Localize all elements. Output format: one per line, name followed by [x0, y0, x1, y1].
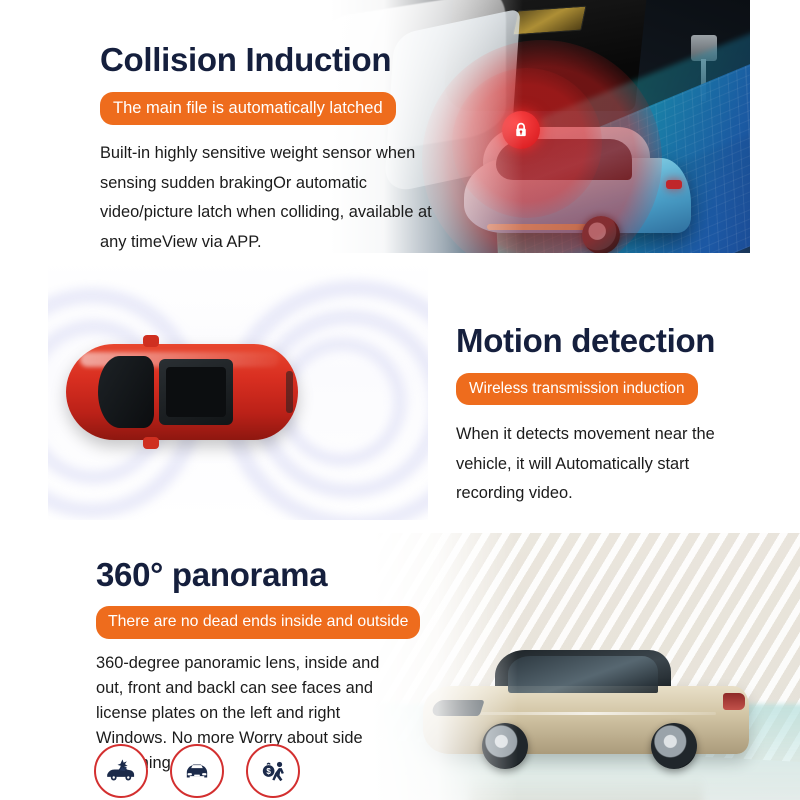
red-car-sunroof — [159, 359, 233, 424]
gold-sedan-taillight — [723, 693, 746, 711]
red-car-rear — [286, 371, 293, 413]
section-heading: Motion detection — [456, 322, 756, 360]
motion-artwork — [48, 258, 428, 520]
red-car-mirror-top — [143, 335, 159, 347]
motion-text-block: Motion detection Wireless transmission i… — [456, 322, 756, 509]
gold-sedan-glass — [508, 656, 658, 692]
panorama-text-block: 360° panorama There are no dead ends ins… — [96, 556, 436, 776]
red-car-sunroof-glass — [166, 367, 225, 417]
section-motion-detection: Motion detection Wireless transmission i… — [0, 258, 800, 526]
section-collision-induction: Collision Induction The main file is aut… — [0, 0, 800, 253]
product-feature-page: Collision Induction The main file is aut… — [0, 0, 800, 800]
collision-icon — [94, 744, 148, 798]
section-heading: 360° panorama — [96, 556, 436, 594]
red-car-mirror-bottom — [143, 437, 159, 449]
panorama-artwork — [372, 533, 800, 800]
blue-car-taillight — [666, 180, 682, 189]
svg-text:$: $ — [266, 767, 271, 776]
red-car-topdown — [66, 344, 298, 440]
red-car-windshield — [98, 356, 154, 427]
garage-panel — [512, 5, 586, 35]
section-badge: The main file is automatically latched — [100, 92, 396, 126]
section-body: When it detects movement near the vehicl… — [456, 420, 732, 509]
collision-text-block: Collision Induction The main file is aut… — [100, 41, 480, 257]
section-badge: Wireless transmission induction — [456, 373, 698, 405]
section-badge: There are no dead ends inside and outsid… — [96, 606, 420, 639]
theft-icon: $ — [246, 744, 300, 798]
section-body: Built-in highly sensitive weight sensor … — [100, 139, 460, 257]
section-heading: Collision Induction — [100, 41, 480, 79]
car-front-icon — [170, 744, 224, 798]
feature-icon-row: $ — [94, 744, 300, 798]
section-360-panorama: 360° panorama There are no dead ends ins… — [0, 533, 800, 800]
